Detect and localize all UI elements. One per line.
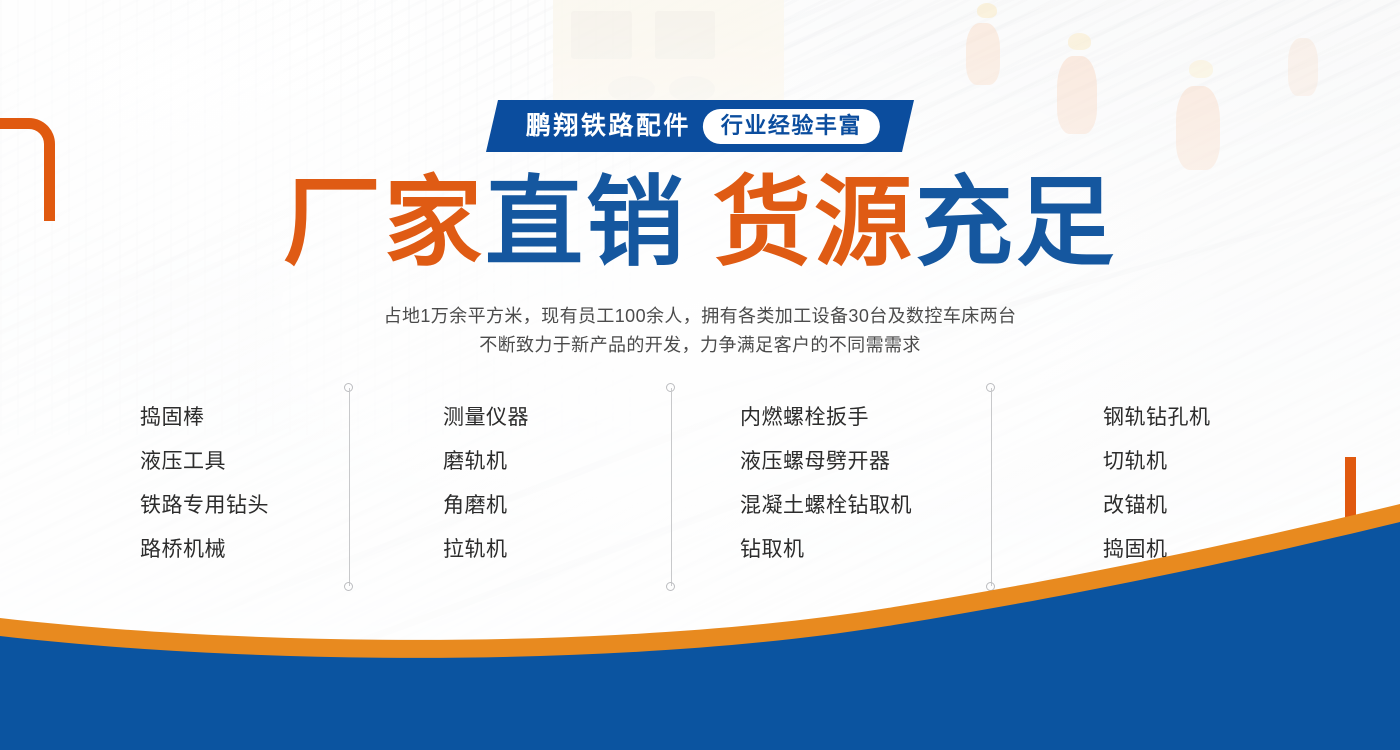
product-item[interactable]: 拉轨机 bbox=[443, 528, 529, 572]
headline-part-4: 充足 bbox=[915, 167, 1117, 277]
top-badge: 鹏翔铁路配件 行业经验丰富 bbox=[486, 100, 914, 152]
corner-accent-right bbox=[1345, 457, 1400, 560]
product-item[interactable]: 液压工具 bbox=[140, 440, 269, 484]
product-column-3: 内燃螺栓扳手 液压螺母劈开器 混凝土螺栓钻取机 钻取机 bbox=[740, 396, 912, 572]
product-column-2: 测量仪器 磨轨机 角磨机 拉轨机 bbox=[443, 396, 529, 572]
product-item[interactable]: 测量仪器 bbox=[443, 396, 529, 440]
product-column-4: 钢轨钻孔机 切轨机 改锚机 捣固机 bbox=[1103, 396, 1211, 572]
headline: 厂家直销货源充足 bbox=[0, 168, 1400, 278]
badge-title: 鹏翔铁路配件 bbox=[526, 114, 691, 139]
product-column-1: 捣固棒 液压工具 铁路专用钻头 路桥机械 bbox=[140, 396, 269, 572]
column-divider-1 bbox=[344, 383, 355, 591]
product-item[interactable]: 角磨机 bbox=[443, 484, 529, 528]
column-divider-2 bbox=[666, 383, 677, 591]
product-item[interactable]: 混凝土螺栓钻取机 bbox=[740, 484, 912, 528]
product-item[interactable]: 改锚机 bbox=[1103, 484, 1211, 528]
product-item[interactable]: 路桥机械 bbox=[140, 528, 269, 572]
product-item[interactable]: 捣固棒 bbox=[140, 396, 269, 440]
subtitle-line-1: 占地1万余平方米，现有员工100余人，拥有各类加工设备30台及数控车床两台 bbox=[0, 302, 1400, 331]
headline-part-1: 厂家 bbox=[283, 167, 485, 277]
product-item[interactable]: 钢轨钻孔机 bbox=[1103, 396, 1211, 440]
column-divider-3 bbox=[986, 383, 997, 591]
headline-part-3: 货源 bbox=[713, 167, 915, 277]
product-item[interactable]: 切轨机 bbox=[1103, 440, 1211, 484]
banner-stage: 鹏翔铁路配件 行业经验丰富 厂家直销货源充足 占地1万余平方米，现有员工100余… bbox=[0, 0, 1400, 750]
top-badge-wrapper: 鹏翔铁路配件 行业经验丰富 bbox=[0, 99, 1400, 153]
product-item[interactable]: 内燃螺栓扳手 bbox=[740, 396, 912, 440]
badge-pill-label: 行业经验丰富 bbox=[703, 109, 880, 144]
divider-dot-bottom bbox=[666, 582, 675, 591]
divider-line bbox=[349, 388, 350, 586]
product-item[interactable]: 液压螺母劈开器 bbox=[740, 440, 912, 484]
divider-dot-bottom bbox=[344, 582, 353, 591]
product-item[interactable]: 铁路专用钻头 bbox=[140, 484, 269, 528]
product-item[interactable]: 磨轨机 bbox=[443, 440, 529, 484]
subtitle: 占地1万余平方米，现有员工100余人，拥有各类加工设备30台及数控车床两台 不断… bbox=[0, 302, 1400, 360]
product-item[interactable]: 钻取机 bbox=[740, 528, 912, 572]
product-item[interactable]: 捣固机 bbox=[1103, 528, 1211, 572]
product-columns: 捣固棒 液压工具 铁路专用钻头 路桥机械 测量仪器 磨轨机 角磨机 拉轨机 内燃… bbox=[110, 396, 1310, 576]
divider-line bbox=[671, 388, 672, 586]
headline-part-2: 直销 bbox=[485, 167, 687, 277]
subtitle-line-2: 不断致力于新产品的开发，力争满足客户的不同需需求 bbox=[0, 331, 1400, 360]
divider-dot-bottom bbox=[986, 582, 995, 591]
divider-line bbox=[991, 388, 992, 586]
